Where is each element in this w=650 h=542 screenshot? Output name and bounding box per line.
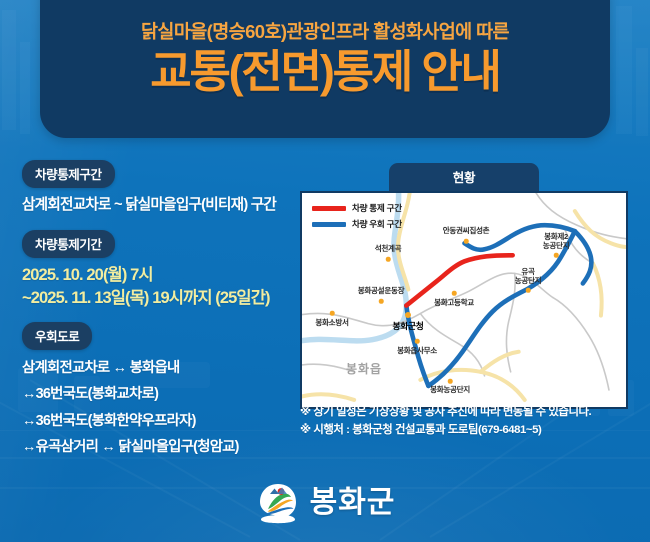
info-block-control-section: 차량통제구간 삼계회전교차로 ~ 닭실마을입구(비티재) 구간 [22, 160, 290, 216]
map-label-bonghwa-high-school: 봉화고등학교 [434, 299, 474, 308]
map-panel: 현황 [300, 163, 628, 409]
note-contact-authority: ※ 시행처 : 봉화군청 건설교통과 도로팀(679-6481~5) [300, 421, 640, 439]
poster-root: 닭실마을(명승60호)관광인프라 활성화사업에 따른 교통(전면)통제 안내 차… [0, 0, 650, 542]
map-dot [415, 339, 420, 344]
note-schedule-disclaimer: ※ 상기 일정은 기상상황 및 공사 추진에 따라 변동될 수 있습니다. [300, 403, 640, 421]
map-dot [386, 257, 391, 262]
notes-block: ※ 상기 일정은 기상상황 및 공사 추진에 따라 변동될 수 있습니다. ※ … [300, 403, 640, 440]
map-dot [379, 299, 384, 304]
legend-row-detour: 차량 우회 구간 [312, 218, 402, 230]
header-subtitle: 닭실마을(명승60호)관광인프라 활성화사업에 따른 [40, 22, 610, 42]
map-label-bonghwa-fire-station: 봉화소방서 [315, 319, 348, 328]
logo-text: 봉화군 [310, 488, 396, 518]
info-block-detour: 우회도로 삼계회전교차로 ↔ 봉화읍내 ↔36번국도(봉화교차로) ↔36번국도… [22, 322, 290, 458]
map-label-yugok-industrial-complex: 유곡 농공단지 [515, 268, 542, 285]
legend-row-control: 차량 통제 구간 [312, 202, 402, 214]
badge-control-period: 차량통제기간 [22, 230, 115, 258]
map-label-seokcheon-valley: 석천계곡 [375, 245, 402, 254]
map-label-andong-kwon-village: 안동권씨집성촌 [443, 227, 489, 236]
map-dot [554, 253, 559, 258]
legend-label-detour: 차량 우회 구간 [352, 218, 402, 230]
control-section-value: 삼계회전교차로 ~ 닭실마을입구(비티재) 구간 [22, 195, 290, 216]
header-title: 교통(전면)통제 안내 [40, 48, 610, 97]
map-label-bonghwa-2nd-industrial-complex: 봉화제2 농공단지 [543, 233, 570, 250]
info-column: 차량통제구간 삼계회전교차로 ~ 닭실마을입구(비티재) 구간 차량통제기간 2… [22, 160, 290, 471]
map-dot [448, 379, 453, 384]
legend-swatch-control-red [312, 206, 346, 211]
map-label-bonghwa-industrial-complex: 봉화농공단지 [430, 386, 470, 395]
map-dot [526, 288, 531, 293]
map-label-bonghwa-county-office: 봉화군청 [393, 321, 424, 331]
badge-detour: 우회도로 [22, 322, 92, 350]
detour-line: ↔유곡삼거리 ↔ 닭실마을입구(청암교) [22, 437, 290, 457]
legend-swatch-detour-blue [312, 222, 346, 227]
map-label-bonghwa-public-stadium: 봉화공설운동장 [358, 287, 404, 296]
header-panel: 닭실마을(명승60호)관광인프라 활성화사업에 따른 교통(전면)통제 안내 [40, 0, 610, 138]
map-dot [464, 239, 469, 244]
detour-line: ↔36번국도(봉화교차로) [22, 384, 290, 404]
footer-logo: 봉화군 [0, 482, 650, 524]
control-period-line-1: 2025. 10. 20(월) 7시 [22, 264, 290, 286]
map-dot [330, 311, 335, 316]
detour-line: 삼계회전교차로 ↔ 봉화읍내 [22, 358, 290, 378]
bonghwa-emblem-icon [255, 482, 301, 524]
detour-line: ↔36번국도(봉화한약우프라자) [22, 411, 290, 431]
map-label-bonghwa-eup-region: 봉화읍 [346, 363, 382, 377]
map-label-bonghwa-eup-office: 봉화읍사무소 [397, 347, 437, 356]
map-dot [405, 312, 411, 318]
legend-label-control: 차량 통제 구간 [352, 202, 402, 214]
map-tab-label: 현황 [389, 163, 539, 191]
map-legend: 차량 통제 구간 차량 우회 구간 [312, 202, 402, 234]
control-period-line-2: ~2025. 11. 13일(목) 19시까지 (25일간) [22, 287, 290, 309]
map-frame: 차량 통제 구간 차량 우회 구간 석천계곡 안동권씨집성촌 봉화제2 농공단지 [300, 191, 628, 409]
map-dot [452, 291, 457, 296]
info-block-control-period: 차량통제기간 2025. 10. 20(월) 7시 ~2025. 11. 13일… [22, 230, 290, 310]
badge-control-section: 차량통제구간 [22, 160, 115, 188]
